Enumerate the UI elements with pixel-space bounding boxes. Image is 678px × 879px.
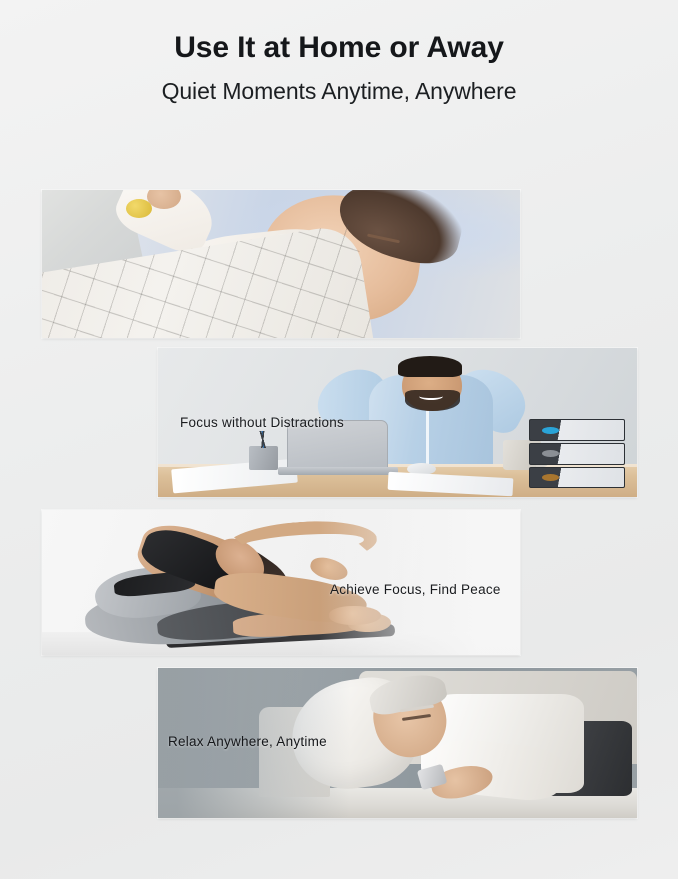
panel-caption-relax: Relax Anywhere, Anytime — [168, 734, 327, 749]
binder-shape — [529, 419, 625, 440]
binder-stack — [529, 418, 625, 490]
page-title: Use It at Home or Away — [0, 29, 678, 67]
header-block: Use It at Home or Away Quiet Moments Any… — [0, 0, 678, 106]
feature-panel-focus[interactable]: Focus without Distractions — [158, 348, 637, 497]
feature-panel-relax[interactable]: Relax Anywhere, Anytime — [158, 668, 637, 818]
feature-panel-peace[interactable]: Achieve Focus, Find Peace — [42, 510, 520, 655]
binder-shape — [529, 443, 625, 464]
binder-shape — [529, 467, 625, 488]
pen-holder-shape — [249, 446, 278, 470]
man-hair-shape — [398, 356, 463, 377]
page-subtitle: Quiet Moments Anytime, Anywhere — [0, 76, 678, 106]
scene-baby-sleeping — [42, 190, 520, 338]
baby-toy-shape — [126, 199, 152, 218]
panel-caption-peace: Achieve Focus, Find Peace — [330, 582, 501, 597]
panel-caption-focus: Focus without Distractions — [180, 415, 344, 430]
laptop-base-shape — [278, 467, 398, 474]
feature-panel-sleep[interactable]: Sleep Peacefully Tonight — [42, 190, 520, 338]
